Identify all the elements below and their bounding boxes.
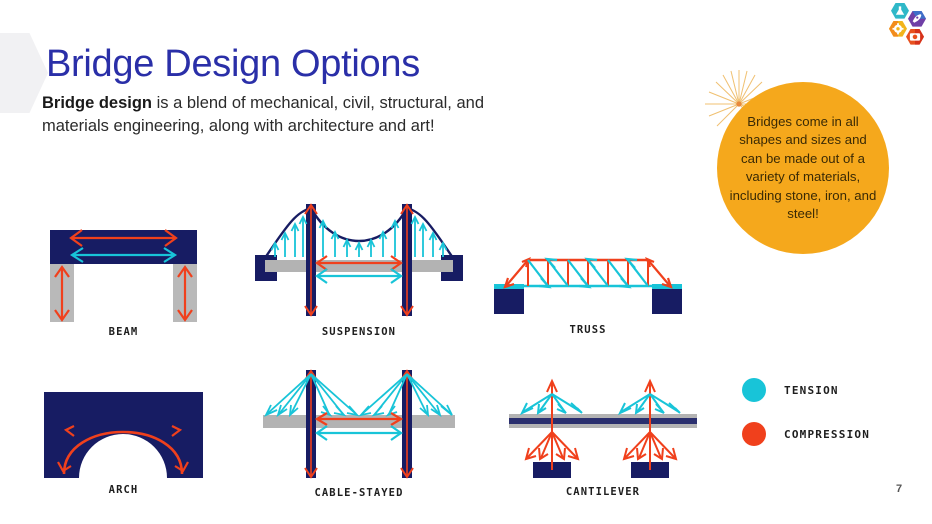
page-number: 7	[896, 483, 902, 495]
callout-text: Bridges come in all shapes and sizes and…	[717, 113, 889, 224]
callout-circle: Bridges come in all shapes and sizes and…	[717, 82, 889, 254]
circle-icon	[742, 378, 766, 402]
page-title: Bridge Design Options	[46, 42, 420, 86]
legend-item-tension: TENSION	[742, 378, 870, 402]
camera-icon	[906, 29, 924, 45]
cantilever-bridge-diagram	[503, 374, 703, 482]
bridge-card-truss: TRUSS	[488, 248, 688, 336]
bridge-label-truss: TRUSS	[488, 324, 688, 336]
cable-stayed-bridge-diagram	[253, 368, 465, 483]
legend-label-compression: COMPRESSION	[784, 428, 870, 441]
bridge-card-cable-stayed: CABLE-STAYED	[253, 368, 465, 499]
bridge-label-cantilever: CANTILEVER	[503, 486, 703, 498]
arch-bridge-diagram	[36, 388, 211, 480]
legend-label-tension: TENSION	[784, 384, 839, 397]
subtitle-bold: Bridge design	[42, 94, 152, 112]
truss-bridge-diagram	[488, 248, 688, 320]
title-hexagon-decoration	[0, 33, 48, 113]
bridge-card-beam: BEAM	[36, 222, 211, 338]
bridge-label-beam: BEAM	[36, 326, 211, 338]
suspension-bridge-diagram	[253, 200, 465, 322]
circle-icon	[742, 422, 766, 446]
legend-item-compression: COMPRESSION	[742, 422, 870, 446]
beam-bridge-diagram	[36, 222, 211, 322]
subtitle-text: Bridge design is a blend of mechanical, …	[42, 92, 492, 138]
rocket-icon	[908, 11, 926, 27]
bridge-label-cable-stayed: CABLE-STAYED	[253, 487, 465, 499]
gear-icon	[889, 21, 907, 37]
bridge-card-arch: ARCH	[36, 388, 211, 496]
brand-hexagon-logo[interactable]	[886, 2, 932, 52]
force-legend: TENSION COMPRESSION	[742, 378, 870, 466]
bridge-card-cantilever: CANTILEVER	[503, 374, 703, 498]
bridge-card-suspension: SUSPENSION	[253, 200, 465, 338]
slide-canvas: Bridge Design Options Bridge design is a…	[0, 0, 932, 524]
flask-icon	[891, 3, 909, 19]
bridge-label-suspension: SUSPENSION	[253, 326, 465, 338]
bridge-label-arch: ARCH	[36, 484, 211, 496]
